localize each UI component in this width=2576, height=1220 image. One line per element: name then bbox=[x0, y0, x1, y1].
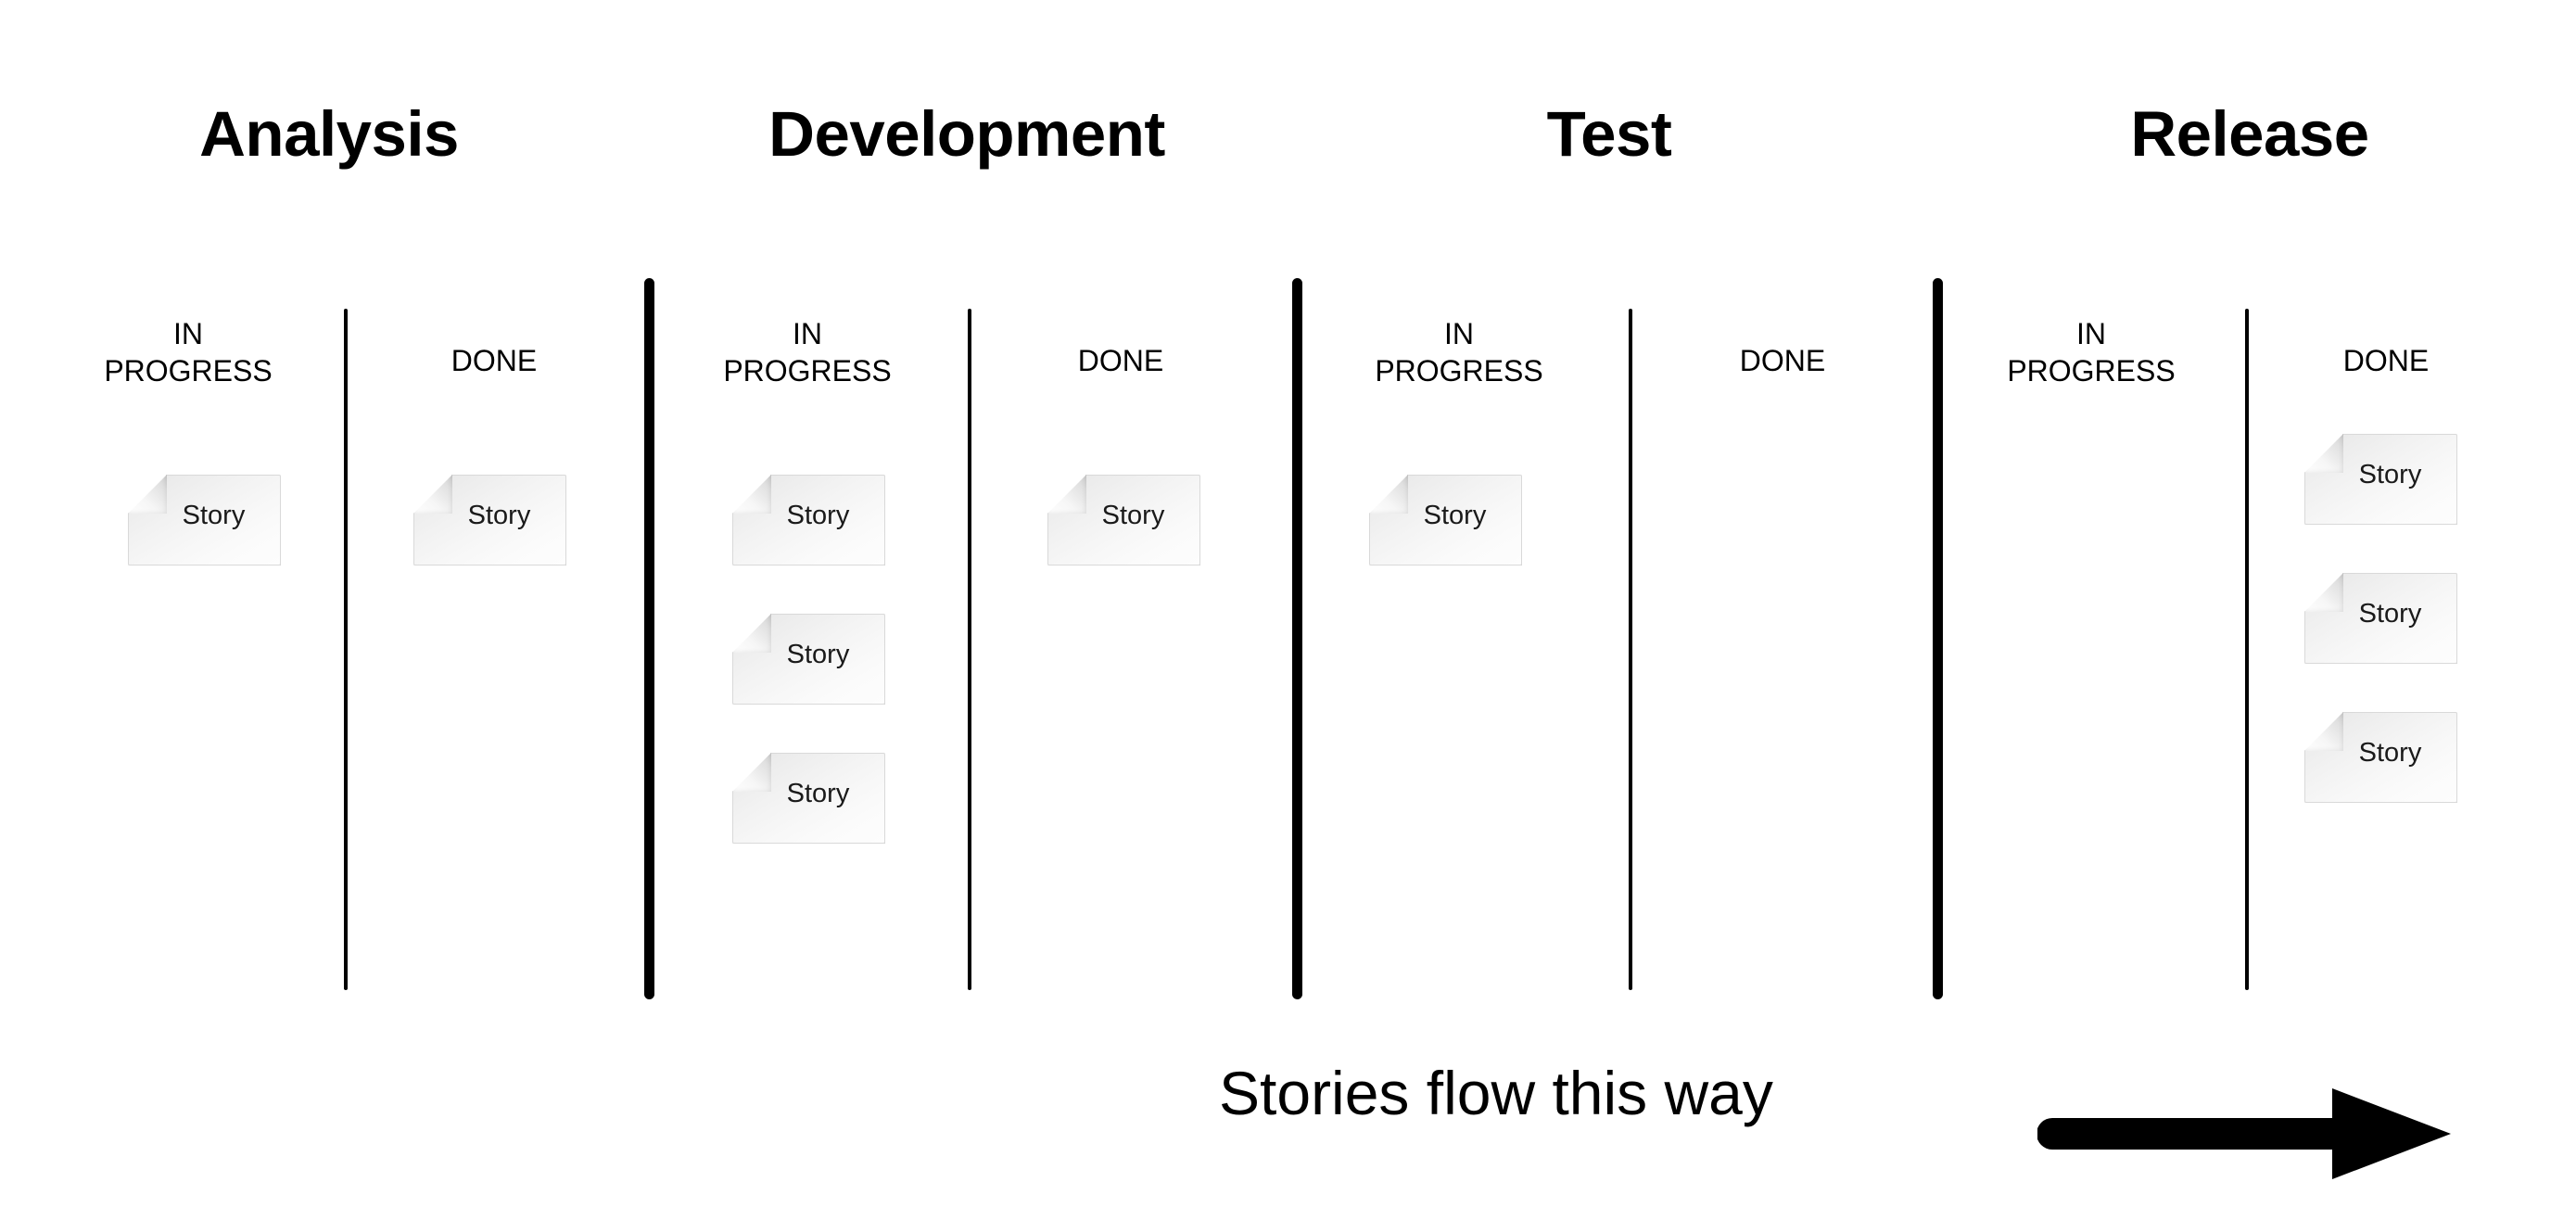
column-label-test-in-progress: IN PROGRESS bbox=[1375, 315, 1542, 390]
story-card[interactable]: Story bbox=[732, 753, 885, 844]
divider-release-inprogress-done bbox=[2245, 309, 2249, 990]
flow-arrow-right-icon bbox=[2037, 1083, 2455, 1185]
story-card-label: Story bbox=[413, 502, 566, 529]
story-card-label: Story bbox=[732, 781, 885, 807]
stage-title-development: Development bbox=[768, 102, 1165, 166]
story-card[interactable]: Story bbox=[2304, 434, 2457, 525]
story-card[interactable]: Story bbox=[1047, 475, 1200, 566]
divider-analysis-inprogress-done bbox=[344, 309, 348, 990]
column-label-release-done: DONE bbox=[2343, 342, 2429, 379]
stage-title-test: Test bbox=[1547, 102, 1672, 166]
story-card-label: Story bbox=[2304, 601, 2457, 628]
flow-caption: Stories flow this way bbox=[1219, 1062, 1773, 1124]
column-label-development-in-progress: IN PROGRESS bbox=[723, 315, 891, 390]
story-card-label: Story bbox=[1047, 502, 1200, 529]
column-label-release-in-progress: IN PROGRESS bbox=[2007, 315, 2175, 390]
column-label-analysis-done: DONE bbox=[451, 342, 537, 379]
story-card[interactable]: Story bbox=[2304, 573, 2457, 664]
divider-test-inprogress-done bbox=[1629, 309, 1632, 990]
column-label-development-done: DONE bbox=[1078, 342, 1163, 379]
story-card[interactable]: Story bbox=[732, 475, 885, 566]
story-card[interactable]: Story bbox=[732, 614, 885, 705]
story-card[interactable]: Story bbox=[1369, 475, 1522, 566]
story-card-label: Story bbox=[1369, 502, 1522, 529]
divider-test-release bbox=[1933, 278, 1943, 999]
kanban-board: Analysis Development Test Release IN PRO… bbox=[0, 0, 2576, 1220]
story-card-label: Story bbox=[732, 642, 885, 668]
story-card-label: Story bbox=[2304, 462, 2457, 489]
story-card[interactable]: Story bbox=[413, 475, 566, 566]
story-card-label: Story bbox=[732, 502, 885, 529]
story-card-label: Story bbox=[128, 502, 281, 529]
divider-development-test bbox=[1292, 278, 1302, 999]
story-card[interactable]: Story bbox=[128, 475, 281, 566]
divider-analysis-development bbox=[644, 278, 654, 999]
column-label-analysis-in-progress: IN PROGRESS bbox=[104, 315, 272, 390]
story-card-label: Story bbox=[2304, 740, 2457, 767]
stage-title-release: Release bbox=[2130, 102, 2368, 166]
stage-title-analysis: Analysis bbox=[199, 102, 459, 166]
story-card[interactable]: Story bbox=[2304, 712, 2457, 803]
column-label-test-done: DONE bbox=[1740, 342, 1825, 379]
divider-development-inprogress-done bbox=[968, 309, 971, 990]
